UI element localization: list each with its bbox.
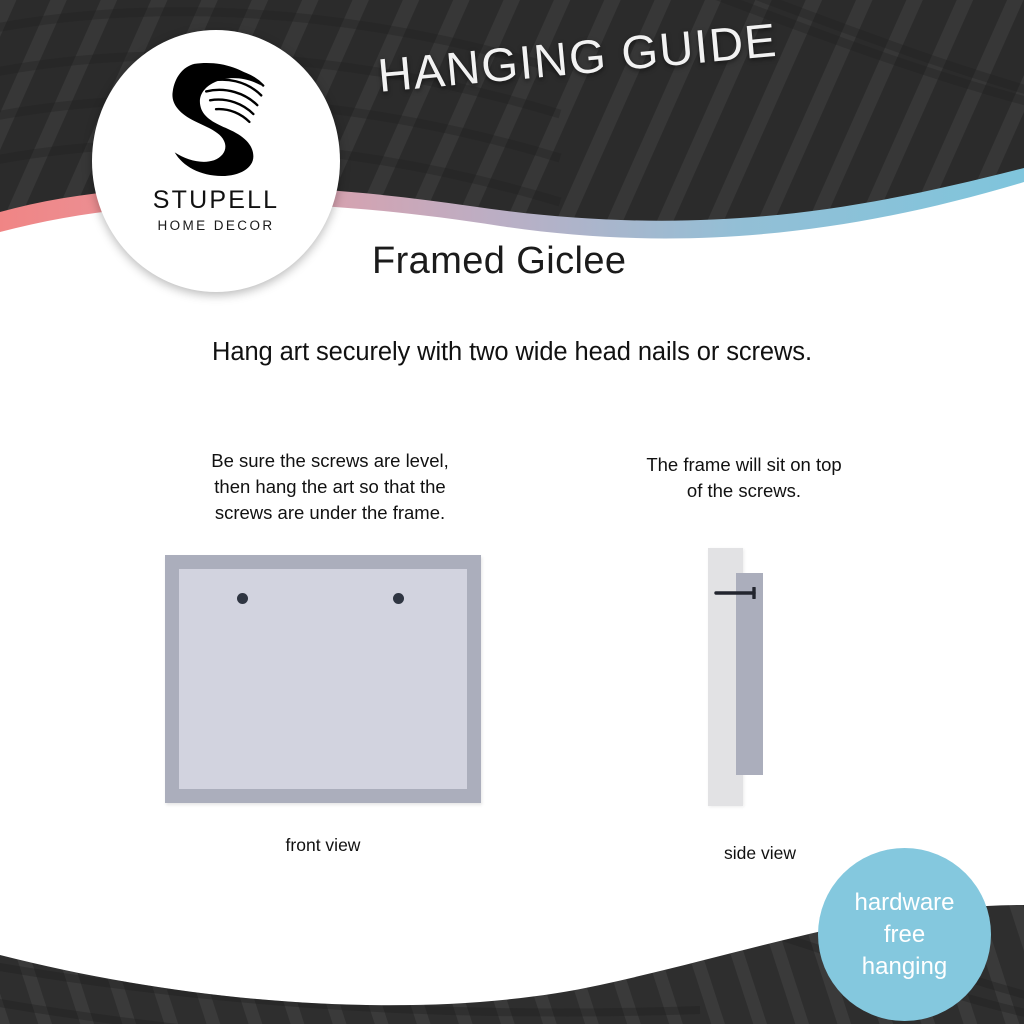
side-view-caption: The frame will sit on top of the screws. [592,452,896,504]
side-view-label: side view [660,843,860,864]
front-view-caption: Be sure the screws are level, then hang … [150,448,510,526]
caption-line: The frame will sit on top [592,452,896,478]
caption-line: then hang the art so that the [150,474,510,500]
caption-line: Be sure the screws are level, [150,448,510,474]
side-view-diagram [700,545,820,810]
product-type-label: Framed Giclee [372,240,626,283]
nail-icon [714,587,762,599]
screw-dot-icon [237,593,248,604]
frame-profile [736,573,763,775]
caption-line: screws are under the frame. [150,500,510,526]
stupell-swoosh-icon [157,58,275,178]
lead-instruction: Hang art securely with two wide head nai… [0,338,1024,367]
frame-art-panel [179,569,467,789]
front-view-label: front view [163,835,483,856]
stupell-logo-badge: STUPELL HOME DECOR [92,30,340,292]
page-title: HANGING GUIDE [376,12,780,103]
screw-dot-icon [393,593,404,604]
logo-name: STUPELL [153,186,280,215]
hardware-free-badge: hardware free hanging [818,848,991,1021]
badge-line: hardware [854,887,954,919]
badge-line: free [884,919,925,951]
front-view-diagram [165,555,481,803]
hanging-guide-page: STUPELL HOME DECOR HANGING GUIDE Framed … [0,0,1024,1024]
caption-line: of the screws. [592,478,896,504]
badge-line: hanging [862,951,947,983]
logo-subtitle: HOME DECOR [157,218,274,233]
